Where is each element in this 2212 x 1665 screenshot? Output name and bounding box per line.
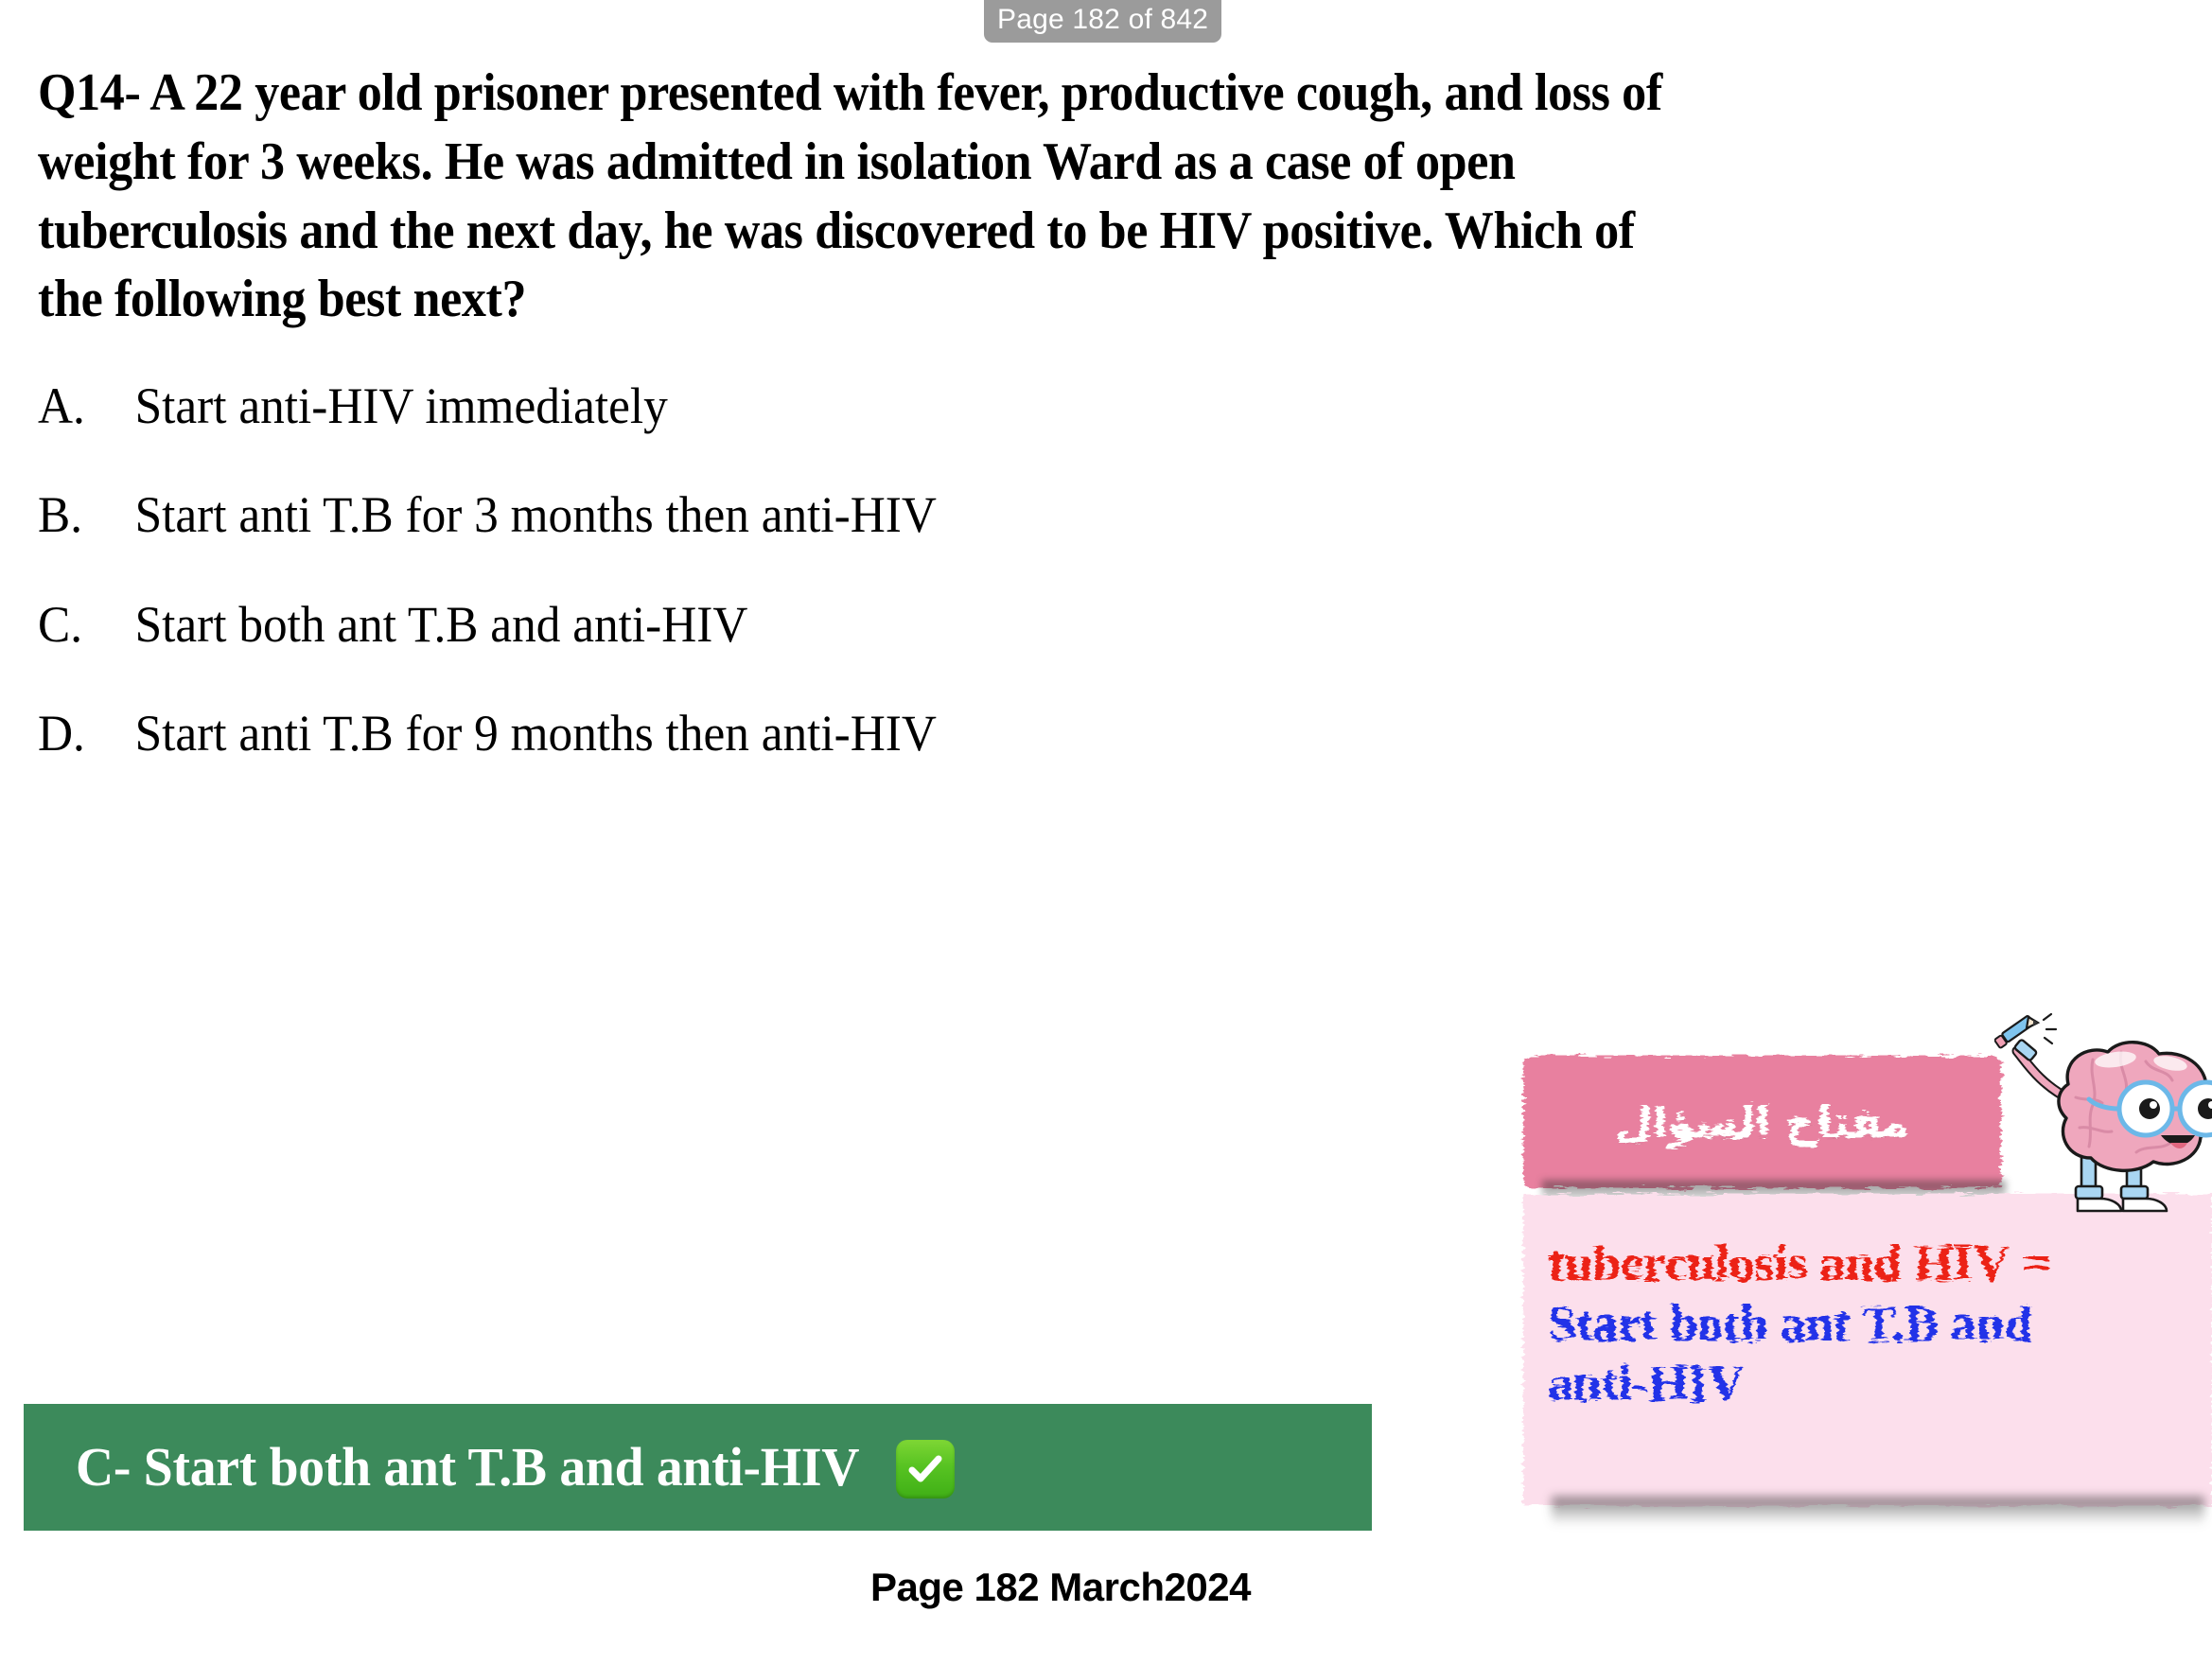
option-b-letter: B.: [38, 487, 135, 543]
question-stem: Q14- A 22 year old prisoner presented wi…: [38, 59, 2027, 334]
correct-answer-banner: C- Start both ant T.B and anti-HIV: [24, 1404, 1372, 1531]
white-heavy-check-mark-icon: [896, 1440, 955, 1498]
question-key-header-label: مفتاح السؤال: [1615, 1096, 1909, 1148]
answer-options-list: A. Start anti-HIV immediately B. Start a…: [38, 378, 1835, 815]
option-c-text: Start both ant T.B and anti-HIV: [135, 597, 1746, 653]
question-line-1: Q14- A 22 year old prisoner presented wi…: [38, 59, 2027, 128]
key-explanation-line-2: Start both ant T.B and: [1548, 1294, 2187, 1355]
option-b[interactable]: B. Start anti T.B for 3 months then anti…: [38, 487, 1746, 543]
option-c-letter: C.: [38, 597, 135, 653]
option-b-text: Start anti T.B for 3 months then anti-HI…: [135, 487, 1746, 543]
question-key-header: مفتاح السؤال: [1523, 1056, 2001, 1188]
page-indicator-badge: Page 182 of 842: [984, 0, 1221, 43]
correct-answer-text: C- Start both ant T.B and anti-HIV: [76, 1440, 859, 1495]
option-d-text: Start anti T.B for 9 months then anti-HI…: [135, 706, 1746, 762]
brain-mascot-icon: [1994, 1010, 2212, 1228]
question-line-2: weight for 3 weeks. He was admitted in i…: [38, 128, 2027, 197]
option-d[interactable]: D. Start anti T.B for 9 months then anti…: [38, 706, 1746, 762]
option-d-letter: D.: [38, 706, 135, 762]
option-a[interactable]: A. Start anti-HIV immediately: [38, 378, 1746, 434]
question-line-3: tuberculosis and the next day, he was di…: [38, 197, 2027, 266]
key-explanation-line-3: anti-HIV: [1548, 1354, 2187, 1414]
option-c[interactable]: C. Start both ant T.B and anti-HIV: [38, 597, 1746, 653]
key-body-shadow: [1552, 1497, 2204, 1525]
question-line-4: the following best next?: [38, 265, 2027, 334]
question-key-body: tuberculosis and HIV = Start both ant T.…: [1523, 1194, 2212, 1506]
option-a-text: Start anti-HIV immediately: [135, 378, 1746, 434]
key-explanation-line-1: tuberculosis and HIV =: [1548, 1234, 2187, 1294]
footer-page-label: Page 182 March2024: [870, 1565, 1251, 1610]
option-a-letter: A.: [38, 378, 135, 434]
